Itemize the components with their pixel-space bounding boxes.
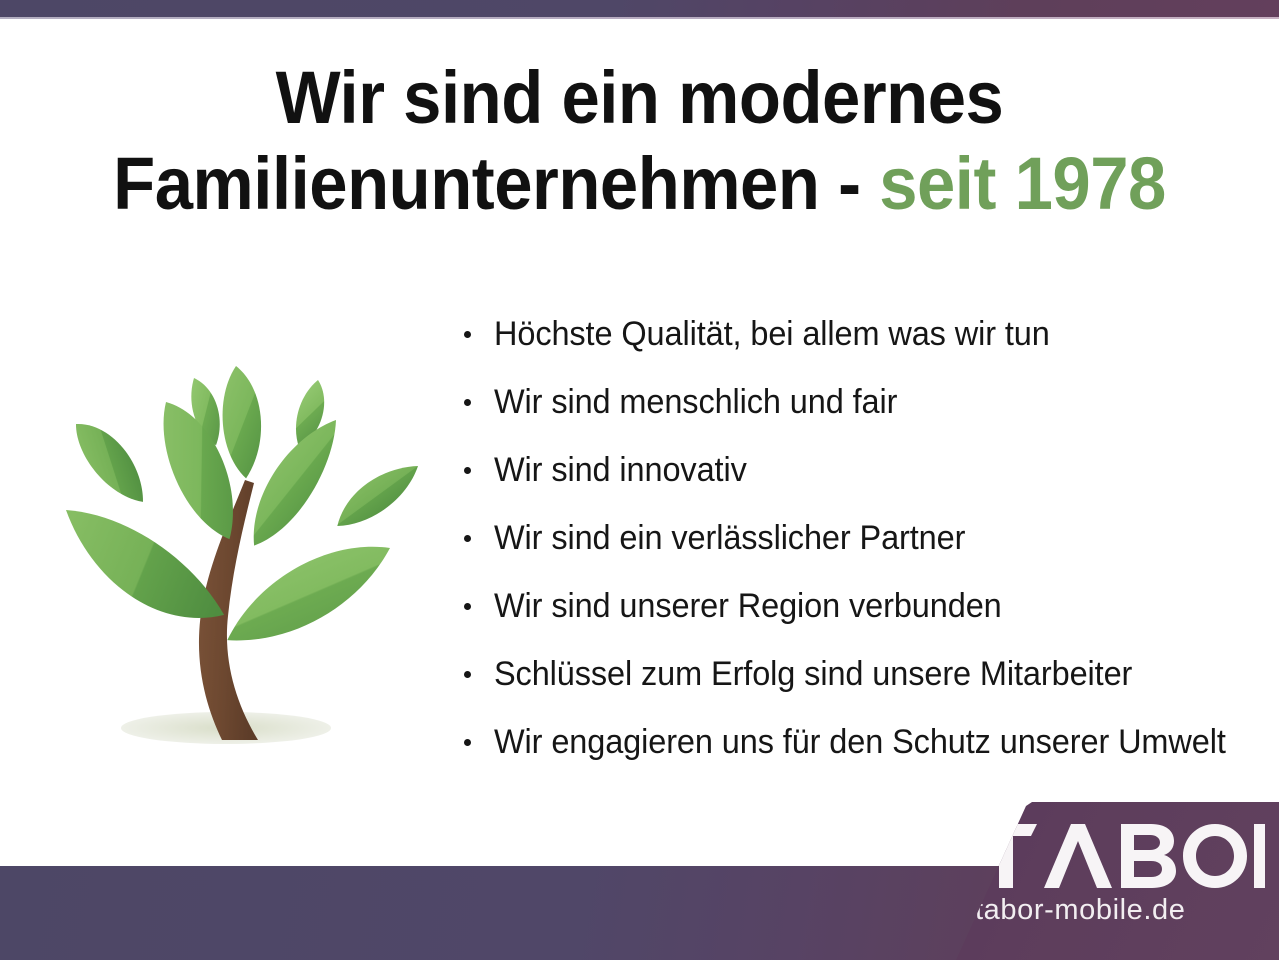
top-accent-bar (0, 0, 1279, 17)
leaf-lower-right (227, 519, 390, 669)
slide-root: Wir sind ein modernes Familienunternehme… (0, 0, 1279, 960)
headline-line-2-plain: Familienunternehmen - (113, 142, 879, 225)
page-title: Wir sind ein modernes Familienunternehme… (45, 55, 1234, 227)
tabor-wordmark-icon (975, 824, 1265, 888)
leaf-top-centre (220, 366, 263, 479)
logo-url-label: tabor-mobile.de (975, 894, 1265, 927)
headline-accent-year: seit 1978 (879, 142, 1166, 225)
list-item: Wir engagieren uns für den Schutz unsere… (458, 708, 1270, 776)
list-item: Wir sind ein verlässlicher Partner (458, 504, 1270, 572)
list-item: Wir sind unserer Region verbunden (458, 572, 1270, 640)
list-item-label: Schlüssel zum Erfolg sind unsere Mitarbe… (494, 640, 1132, 708)
list-item: Wir sind innovativ (458, 436, 1270, 504)
tree-illustration (18, 328, 448, 758)
list-item-label: Wir sind ein verlässlicher Partner (494, 504, 965, 572)
list-item: Höchste Qualität, bei allem was wir tun (458, 300, 1270, 368)
bullet-dot-icon (464, 739, 471, 746)
headline-line-1: Wir sind ein modernes (45, 55, 1234, 141)
list-item: Wir sind menschlich und fair (458, 368, 1270, 436)
list-item: Schlüssel zum Erfolg sind unsere Mitarbe… (458, 640, 1270, 708)
top-accent-hairline (0, 17, 1279, 19)
list-item-label: Wir engagieren uns für den Schutz unsere… (494, 708, 1226, 776)
headline-line-2: Familienunternehmen - seit 1978 (45, 141, 1234, 227)
leaf-left-outer (67, 409, 155, 514)
bullet-dot-icon (464, 331, 471, 338)
bullet-dot-icon (464, 603, 471, 610)
list-item-label: Wir sind menschlich und fair (494, 368, 897, 436)
bullet-dot-icon (464, 535, 471, 542)
bullet-dot-icon (464, 399, 471, 406)
list-item-label: Höchste Qualität, bei allem was wir tun (494, 300, 1050, 368)
bullet-dot-icon (464, 467, 471, 474)
list-item-label: Wir sind innovativ (494, 436, 747, 504)
bullet-dot-icon (464, 671, 471, 678)
list-item-label: Wir sind unserer Region verbunden (494, 572, 1002, 640)
leaf-right-outer (333, 445, 421, 545)
value-bullet-list: Höchste Qualität, bei allem was wir tun … (458, 300, 1270, 776)
